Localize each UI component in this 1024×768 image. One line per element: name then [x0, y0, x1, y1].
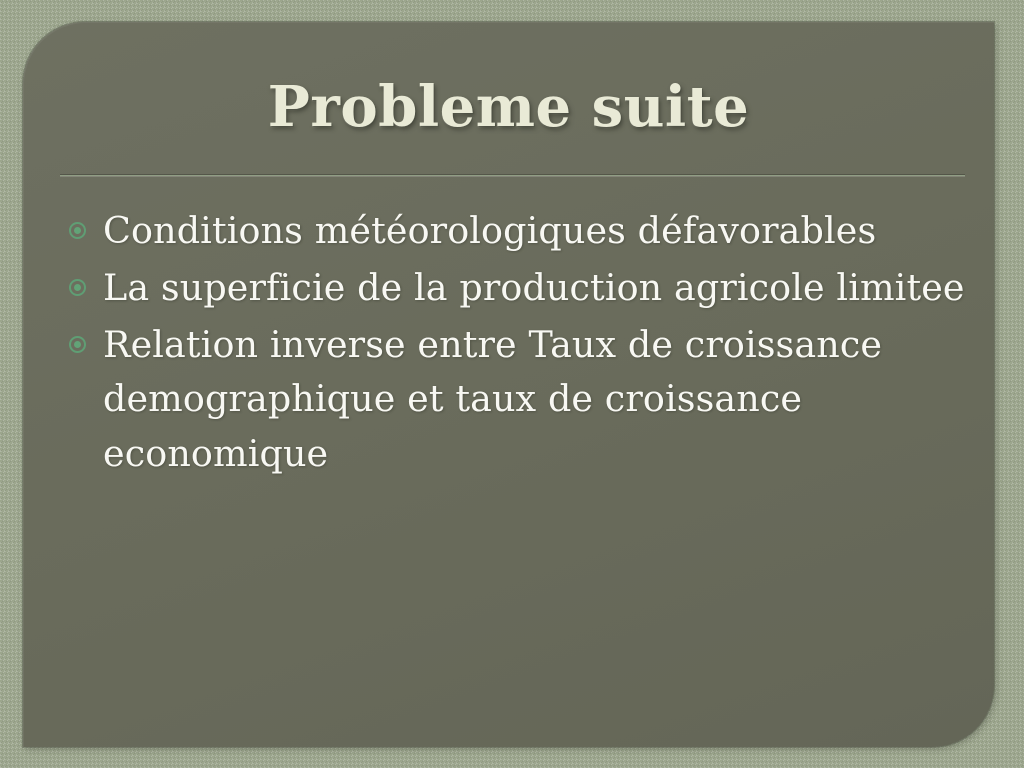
slide-body: Conditions météorologiques défavorables … [63, 204, 968, 484]
bullet-text: La superficie de la production agricole … [103, 266, 965, 309]
ring-dot-bullet-icon [69, 336, 86, 353]
title-divider [60, 174, 965, 177]
slide-title-block: Probleme suite [23, 78, 994, 137]
list-item: Relation inverse entre Taux de croissanc… [63, 318, 968, 482]
ring-dot-bullet-icon [69, 279, 86, 296]
bullet-text: Relation inverse entre Taux de croissanc… [103, 323, 882, 476]
page-title: Probleme suite [268, 78, 749, 137]
ring-dot-bullet-icon [69, 222, 86, 239]
slide-content-panel: Probleme suite Conditions météorologique… [23, 22, 994, 747]
bullet-text: Conditions météorologiques défavorables [103, 209, 876, 252]
slide-canvas: Probleme suite Conditions météorologique… [0, 0, 1024, 768]
bullet-list: Conditions météorologiques défavorables … [63, 204, 968, 482]
list-item: Conditions météorologiques défavorables [63, 204, 968, 259]
list-item: La superficie de la production agricole … [63, 261, 968, 316]
